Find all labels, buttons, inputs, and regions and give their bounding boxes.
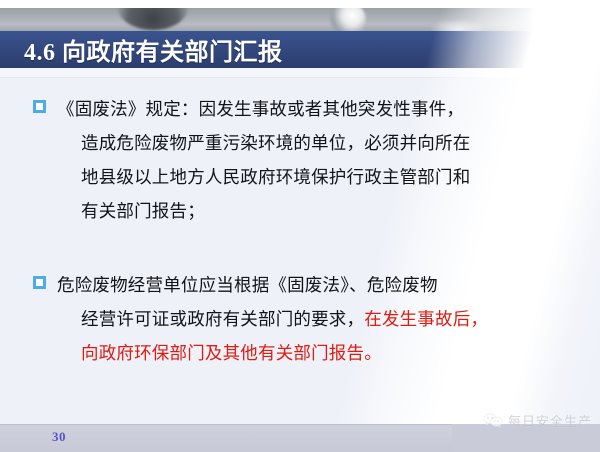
header-diagonal-highlight (452, 68, 600, 78)
metal-reflection-icon (118, 8, 188, 30)
slide-footer: 30 (0, 424, 600, 452)
page-number: 30 (52, 429, 66, 445)
header-right-notch (568, 8, 600, 31)
metal-glare-icon (430, 20, 486, 31)
paragraph-line: 危险废物经营单位应当根据《固废法》、危险废物 (57, 268, 573, 302)
hollow-square-bullet-icon (33, 276, 46, 289)
header-top-margin (0, 0, 600, 8)
page-title: 4.6 向政府有关部门汇报 (24, 31, 283, 68)
bullet-paragraph: 危险废物经营单位应当根据《固废法》、危险废物 经营许可证或政府有关部门的要求，在… (57, 268, 573, 370)
presentation-slide: 4.6 向政府有关部门汇报 《固废法》规定：因发生事故或者其他突发性事件， 造成… (0, 0, 600, 452)
bullet-item: 危险废物经营单位应当根据《固废法》、危险废物 经营许可证或政府有关部门的要求，在… (33, 268, 573, 370)
paragraph-line: 《固废法》规定：因发生事故或者其他突发性事件， (57, 92, 573, 126)
paragraph-line: 经营许可证或政府有关部门的要求，在发生事故后， (57, 302, 573, 336)
paragraph-line-highlight: 向政府环保部门及其他有关部门报告。 (57, 336, 573, 370)
paragraph-line: 有关部门报告； (57, 194, 573, 228)
header-metal-band (0, 8, 571, 31)
metal-bubble-icon (528, 8, 571, 31)
paragraph-line: 造成危险废物严重污染环境的单位，必须并向所在 (57, 126, 573, 160)
slide-body: 《固废法》规定：因发生事故或者其他突发性事件， 造成危险废物严重污染环境的单位，… (0, 80, 600, 424)
paragraph-line-text: 经营许可证或政府有关部门的要求， (81, 309, 364, 329)
bullet-paragraph: 《固废法》规定：因发生事故或者其他突发性事件， 造成危险废物严重污染环境的单位，… (57, 92, 573, 228)
slide-header: 4.6 向政府有关部门汇报 (0, 0, 600, 78)
paragraph-line-highlight: 在发生事故后， (364, 309, 488, 329)
paragraph-line: 地县级以上地方人民政府环境保护行政主管部门和 (57, 160, 573, 194)
metal-bubble-icon (330, 8, 366, 31)
hollow-square-bullet-icon (33, 100, 46, 113)
footer-right-panel (452, 424, 600, 452)
bullet-item: 《固废法》规定：因发生事故或者其他突发性事件， 造成危险废物严重污染环境的单位，… (33, 92, 573, 228)
